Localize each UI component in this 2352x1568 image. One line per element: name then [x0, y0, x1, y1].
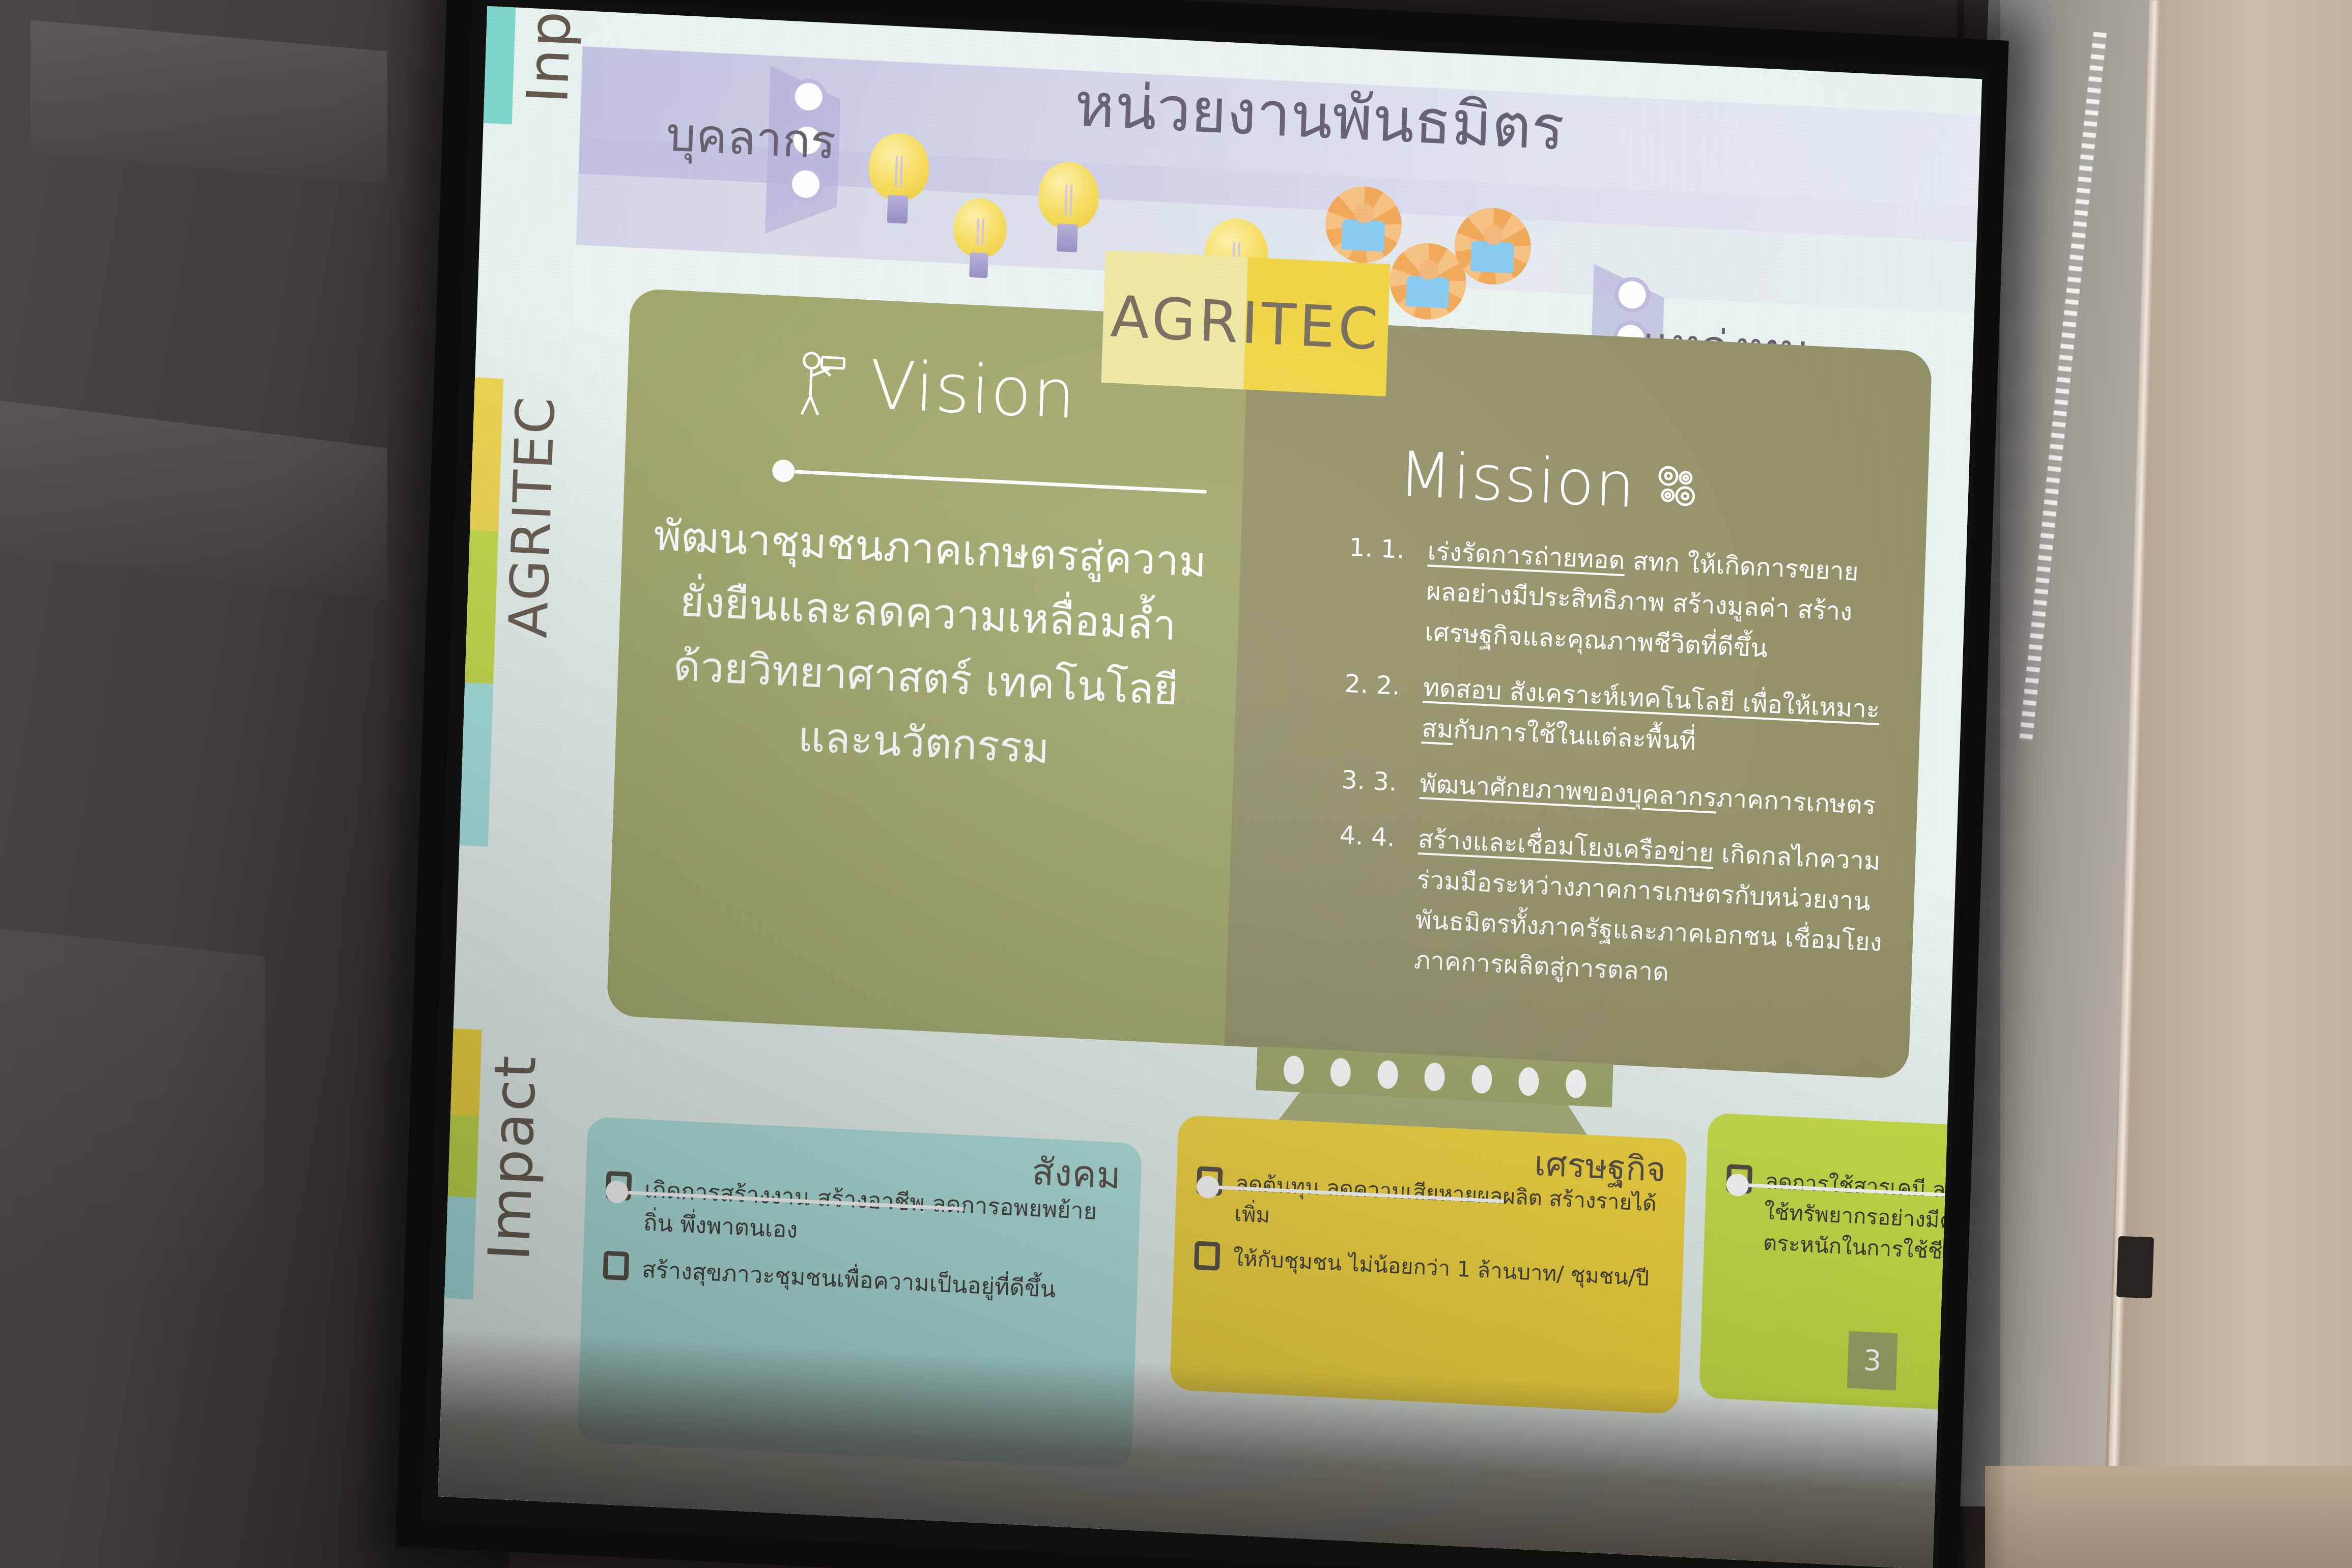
- impact-item-text: ให้กับชุมชน ไม่น้อยกว่า 1 ล้านบาท/ ชุมชน…: [1233, 1243, 1650, 1294]
- slide: บุคลากร หน่วยงานพันธมิตร แหล่งทุน Input …: [438, 6, 1982, 1568]
- floor: [1985, 1466, 2352, 1568]
- lightbulb-icon: [1037, 160, 1099, 231]
- checkbox-icon[interactable]: [1194, 1241, 1221, 1271]
- label-personnel: บุคลากร: [665, 96, 837, 179]
- person-telescope-icon: [789, 345, 848, 420]
- page-number: 3: [1847, 1331, 1898, 1390]
- vision-text: พัฒนาชุมชนภาคเกษตรสู่ความยั่งยืนและลดควา…: [645, 503, 1208, 789]
- wall-glare: [31, 20, 387, 183]
- mission-list: เร่งรัดการถ่ายทอด สทก ให้เกิดการขยายผลอย…: [1366, 529, 1900, 1019]
- impact-item: สร้างสุขภาวะชุมชนเพื่อความเป็นอยู่ที่ดีข…: [603, 1250, 1117, 1309]
- vision-heading: Vision: [789, 342, 1078, 434]
- lightbulb-icon: [868, 132, 930, 202]
- mission-item-rest: กับการใช้ในแต่ละพื้นที่: [1453, 715, 1696, 756]
- screen-surface: บุคลากร หน่วยงานพันธมิตร แหล่งทุน Input …: [438, 6, 1982, 1568]
- impact-item: ให้กับชุมชน ไม่น้อยกว่า 1 ล้านบาท/ ชุมชน…: [1194, 1241, 1663, 1295]
- vision-title: Vision: [869, 346, 1078, 434]
- checkbox-icon[interactable]: [603, 1250, 630, 1280]
- mission-title: Mission: [1397, 438, 1636, 522]
- people-gear-icon: [1453, 206, 1532, 286]
- mission-item: ทดสอบ สังเคราะห์เทคโนโลยี เพื่อให้เหมาะส…: [1374, 665, 1895, 771]
- mission-item: เร่งรัดการถ่ายทอด สทก ให้เกิดการขยายผลอย…: [1377, 529, 1900, 675]
- agritec-badge: AGRITEC: [1101, 250, 1390, 396]
- pole-clamp: [2116, 1236, 2154, 1298]
- mission-heading: Mission: [1397, 438, 1703, 525]
- mission-item-key: พัฒนาศักยภาพของบุคลากร: [1420, 769, 1717, 812]
- wall-glare: [0, 927, 265, 1313]
- mission-item: สร้างและเชื่อมโยงเครือข่าย เกิดกลไกความร…: [1367, 817, 1890, 1004]
- rail-label-input: Input: [515, 6, 586, 105]
- lightbulb-icon: [953, 197, 1008, 259]
- vision-line-2: ด้วยวิทยาศาสตร์ เทคโนโลยีและนวัตกรรม: [645, 633, 1204, 789]
- room-photo: บุคลากร หน่วยงานพันธมิตร แหล่งทุน Input …: [0, 0, 2352, 1568]
- wall-glare: [0, 397, 387, 601]
- mission-item-key: สร้างและเชื่อมโยงเครือข่าย: [1418, 824, 1714, 868]
- rail-label-impact: Impact: [476, 1053, 549, 1262]
- impact-item-text: สร้างสุขภาวะชุมชนเพื่อความเป็นอยู่ที่ดีข…: [641, 1252, 1056, 1306]
- mission-item-key: เร่งรัดการถ่ายทอด: [1427, 536, 1626, 575]
- agritec-badge-label: AGRITEC: [1101, 250, 1390, 396]
- projection-screen: บุคลากร หน่วยงานพันธมิตร แหล่งทุน Input …: [394, 0, 2008, 1568]
- rail-label-agritec: AGRITEC: [497, 394, 567, 639]
- gears-icon: [1652, 461, 1703, 515]
- mission-item: พัฒนาศักยภาพของบุคลากรภาคการเกษตร: [1372, 761, 1892, 826]
- mission-item-rest: ภาคการเกษตร: [1716, 783, 1877, 820]
